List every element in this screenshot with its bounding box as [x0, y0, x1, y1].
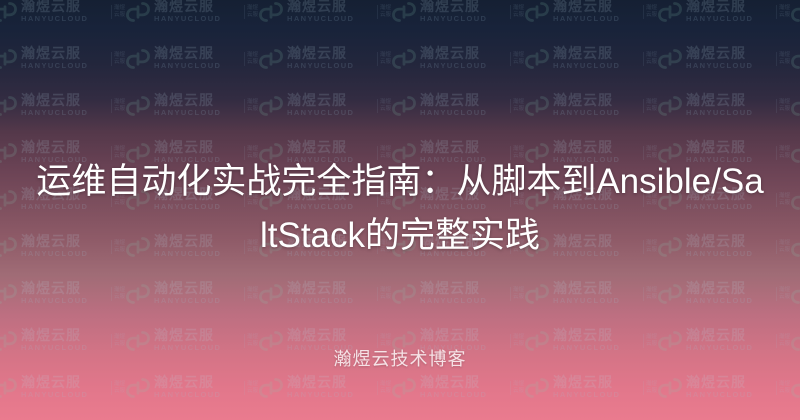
page-title: 运维自动化实战完全指南：从脚本到Ansible/SaltStack的完整实践: [0, 155, 800, 263]
cover-subtitle: 瀚煜云技术博客: [0, 346, 800, 372]
cover-content: 运维自动化实战完全指南：从脚本到Ansible/SaltStack的完整实践 瀚…: [0, 0, 800, 420]
blog-cover-banner: 瀚煜云服HANYUCLOUD瀚煜云服瀚煜云服HANYUCLOUD瀚煜云服瀚煜云服…: [0, 0, 800, 420]
